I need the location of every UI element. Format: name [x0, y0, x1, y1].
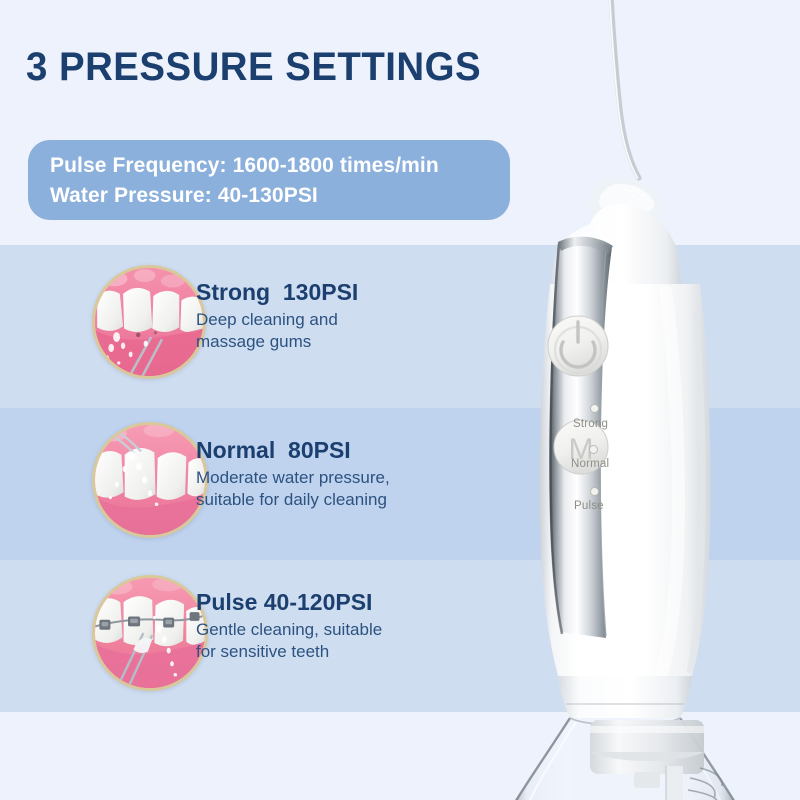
feature-title-normal: Normal 80PSI	[196, 436, 390, 464]
device-indicator-label-pulse: Pulse	[574, 500, 604, 512]
teeth-water-spray-normal-icon	[92, 422, 208, 538]
device-indicator-label-strong: Strong	[573, 418, 608, 430]
device-indicator-label-normal: Normal	[571, 458, 609, 470]
teeth-water-spray-strong-icon	[92, 265, 206, 379]
water-flosser-device-image: M	[430, 0, 800, 800]
feature-text-strong: Strong 130PSI Deep cleaning and massage …	[196, 278, 358, 353]
infographic-canvas: 3 PRESSURE SETTINGS Pulse Frequency: 160…	[0, 0, 800, 800]
feature-desc-normal: Moderate water pressure, suitable for da…	[196, 467, 390, 511]
page-title: 3 PRESSURE SETTINGS	[26, 45, 481, 90]
feature-title-strong: Strong 130PSI	[196, 278, 358, 306]
feature-text-normal: Normal 80PSI Moderate water pressure, su…	[196, 436, 390, 511]
led-indicator-pulse	[590, 487, 599, 496]
led-indicator-normal	[589, 445, 598, 454]
feature-desc-strong: Deep cleaning and massage gums	[196, 309, 358, 353]
feature-desc-pulse: Gentle cleaning, suitable for sensitive …	[196, 619, 382, 663]
teeth-braces-water-spray-pulse-icon	[92, 575, 208, 691]
feature-text-pulse: Pulse 40-120PSI Gentle cleaning, suitabl…	[196, 588, 382, 663]
feature-title-pulse: Pulse 40-120PSI	[196, 588, 382, 616]
led-indicator-strong	[590, 404, 599, 413]
